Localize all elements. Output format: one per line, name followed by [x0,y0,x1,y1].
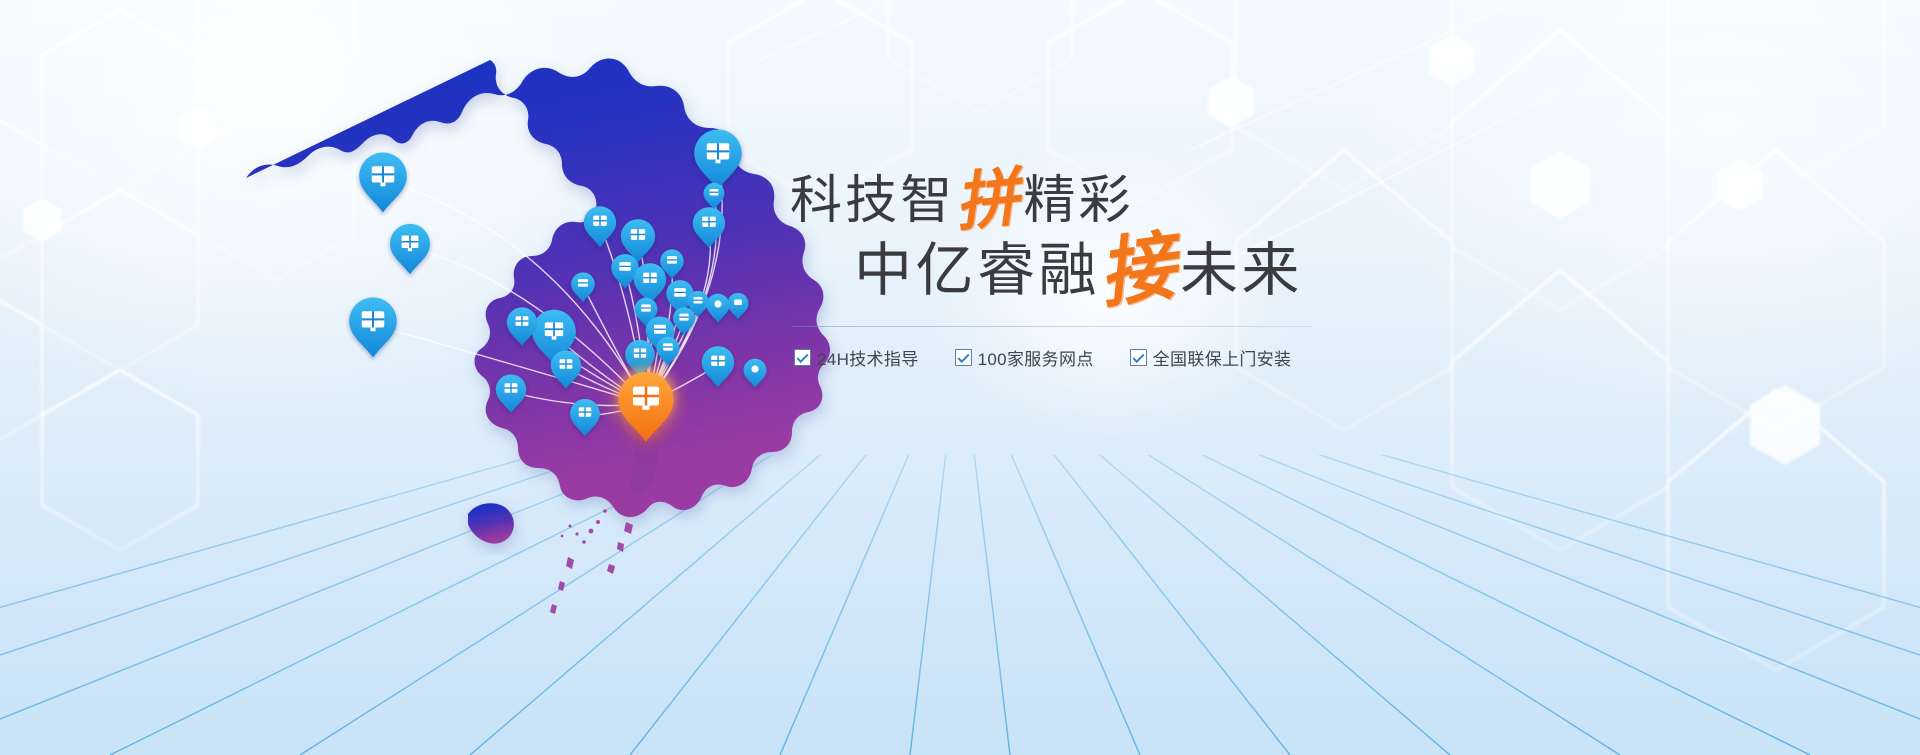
banner-stage: 科技智拼精彩 中亿睿融接未来 24H技术指导 100家服务网点 全国联保上门安装 [0,0,1920,755]
feature-label: 100家服务网点 [978,345,1094,370]
feature-item-0: 24H技术指导 [794,345,919,370]
headline-line1-prefix: 科技智 [790,172,955,230]
headline-line2-suffix: 未来 [1180,238,1303,303]
headline-line-2: 中亿睿融接未来 [782,241,1342,300]
headline-divider [792,326,1312,327]
headline-line2-accent: 接 [1094,227,1179,312]
china-service-network-map [150,30,870,650]
feature-label: 全国联保上门安装 [1153,345,1292,370]
feature-item-1: 100家服务网点 [955,345,1094,370]
feature-label: 24H技术指导 [817,345,919,370]
copy-block: 科技智拼精彩 中亿睿融接未来 24H技术指导 100家服务网点 全国联保上门安装 [782,175,1342,370]
check-box-icon [955,349,972,366]
headline-line1-suffix: 精彩 [1023,172,1133,230]
glow-top-right [1320,0,1920,450]
headline-line2-prefix: 中亿睿融 [854,238,1100,303]
check-box-icon [1130,349,1147,366]
headline-line-1: 科技智拼精彩 [782,175,1342,227]
headline-line1-accent: 拼 [953,166,1023,236]
check-box-icon [794,349,811,366]
feature-list: 24H技术指导 100家服务网点 全国联保上门安装 [794,345,1342,370]
feature-item-2: 全国联保上门安装 [1130,345,1292,370]
